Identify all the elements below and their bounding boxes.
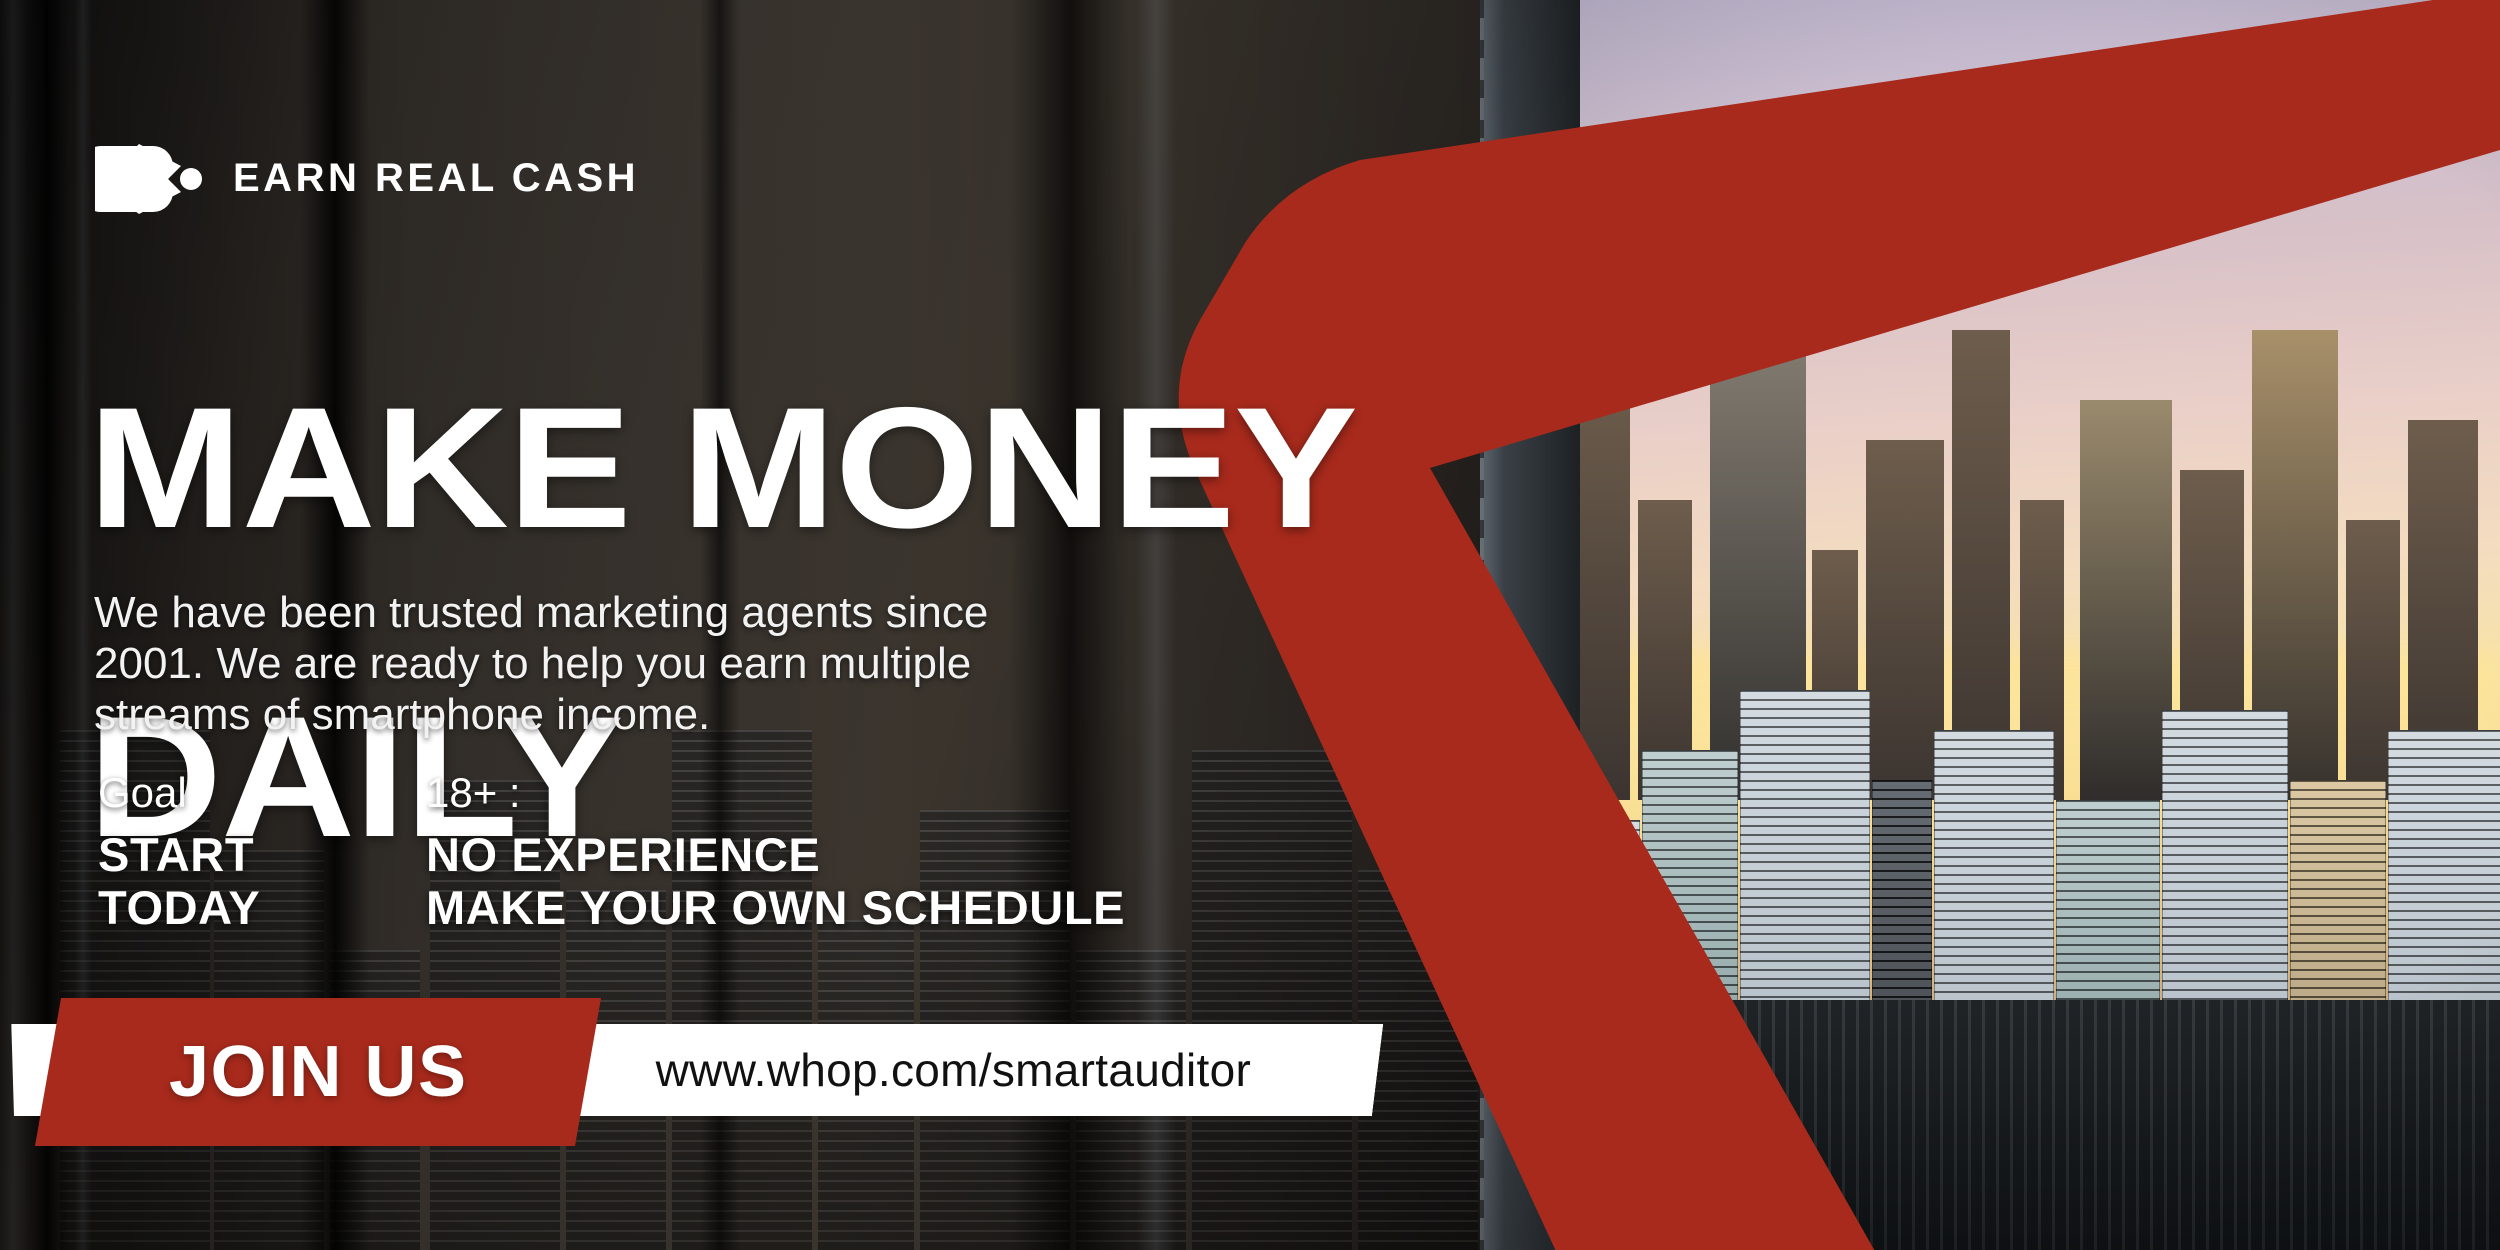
column-requirements-kicker: 18+ : bbox=[426, 770, 1125, 816]
headline-line-1: MAKE MONEY bbox=[88, 391, 1357, 546]
banner-content: EARN REAL CASH MAKE MONEY DAILY We have … bbox=[0, 0, 2500, 1250]
promo-banner: EARN REAL CASH MAKE MONEY DAILY We have … bbox=[0, 0, 2500, 1250]
column-goal: Goal START TODAY bbox=[98, 770, 328, 934]
column-requirements: 18+ : NO EXPERIENCE MAKE YOUR OWN SCHEDU… bbox=[426, 770, 1125, 934]
column-goal-value: START TODAY bbox=[98, 828, 328, 934]
cta-url[interactable]: www.whop.com/smartauditor bbox=[656, 1043, 1251, 1097]
brand-name: EARN REAL CASH bbox=[233, 156, 639, 201]
chevron-dot-logo-icon bbox=[95, 138, 205, 218]
brand-lockup: EARN REAL CASH bbox=[95, 138, 639, 218]
feature-columns: Goal START TODAY 18+ : NO EXPERIENCE MAK… bbox=[98, 770, 1125, 934]
join-us-button[interactable]: JOIN US bbox=[35, 998, 601, 1146]
column-requirements-value: NO EXPERIENCE MAKE YOUR OWN SCHEDULE bbox=[426, 828, 1125, 934]
join-us-label: JOIN US bbox=[169, 1031, 468, 1113]
column-goal-kicker: Goal bbox=[98, 770, 328, 816]
body-paragraph: We have been trusted marketing agents si… bbox=[94, 587, 1054, 740]
